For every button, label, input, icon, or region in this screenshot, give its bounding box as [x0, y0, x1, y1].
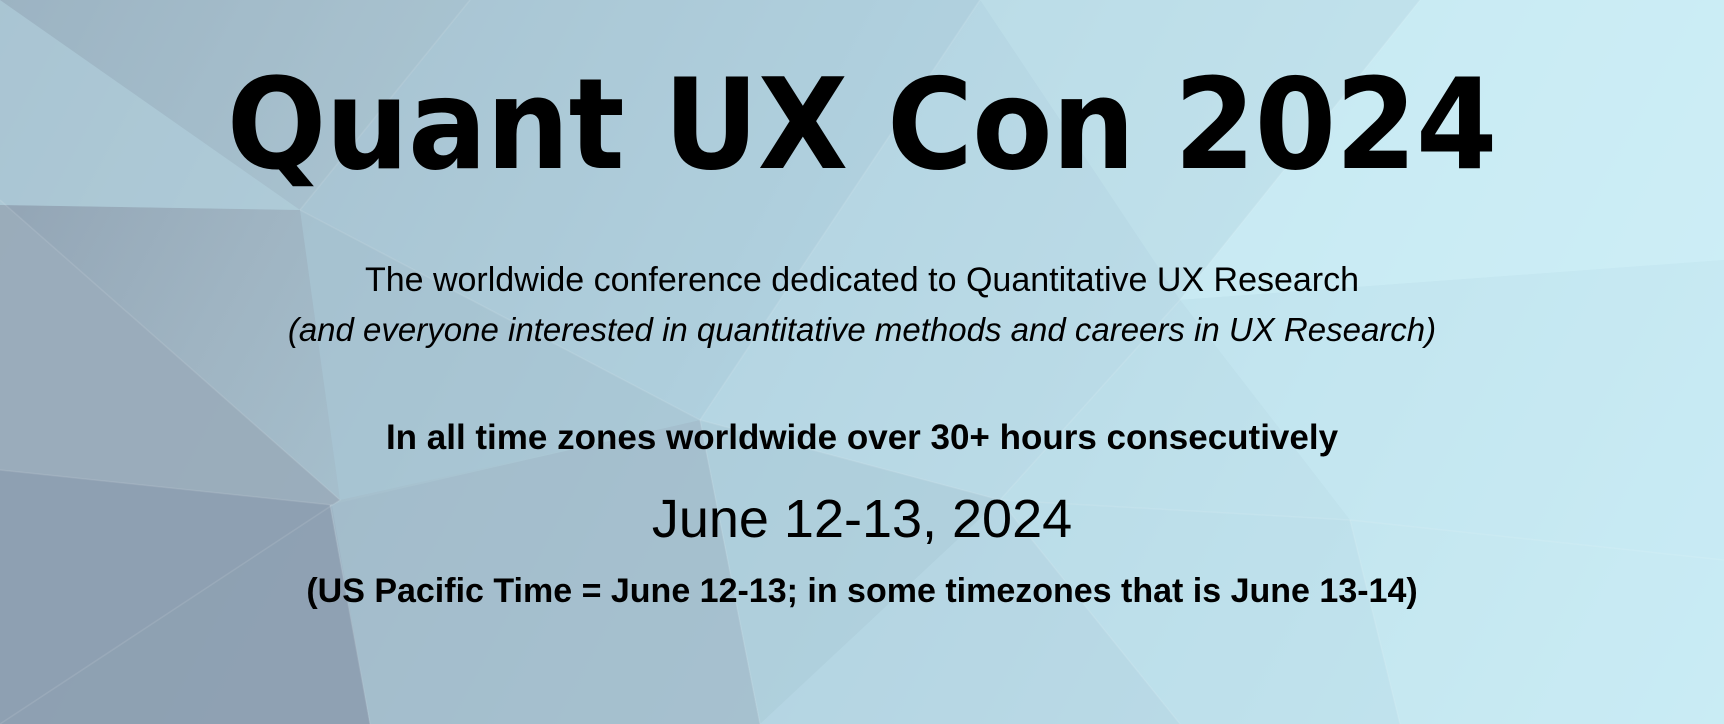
hero-banner: Quant UX Con 2024 The worldwide conferen… [0, 0, 1724, 724]
page-title: Quant UX Con 2024 [227, 62, 1497, 188]
hero-timezone-note: (US Pacific Time = June 12-13; in some t… [306, 572, 1417, 611]
hero-dates: June 12-13, 2024 [652, 488, 1072, 550]
hero-hours-line: In all time zones worldwide over 30+ hou… [386, 418, 1338, 458]
hero-content: Quant UX Con 2024 The worldwide conferen… [0, 0, 1724, 724]
hero-tagline: The worldwide conference dedicated to Qu… [365, 260, 1359, 300]
hero-tagline-parenthetical: (and everyone interested in quantitative… [288, 311, 1436, 350]
